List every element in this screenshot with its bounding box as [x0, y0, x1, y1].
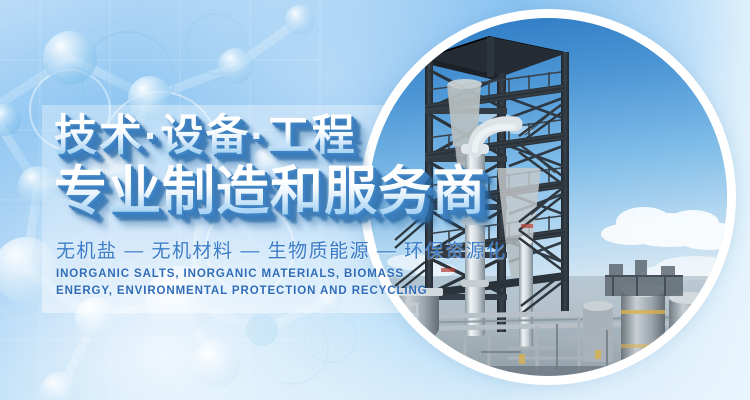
subtitle-english: INORGANIC SALTS, INORGANIC MATERIALS, BI…	[56, 266, 456, 300]
headline-line-1: 技术·设备·工程	[54, 112, 357, 160]
subtitle-chinese: 无机盐 — 无机材料 — 生物质能源 — 环保资源化	[56, 239, 507, 265]
hero-banner: 技术·设备·工程 专业制造和服务商 无机盐 — 无机材料 — 生物质能源 — 环…	[0, 0, 750, 400]
headline-line-2: 专业制造和服务商	[54, 163, 486, 221]
